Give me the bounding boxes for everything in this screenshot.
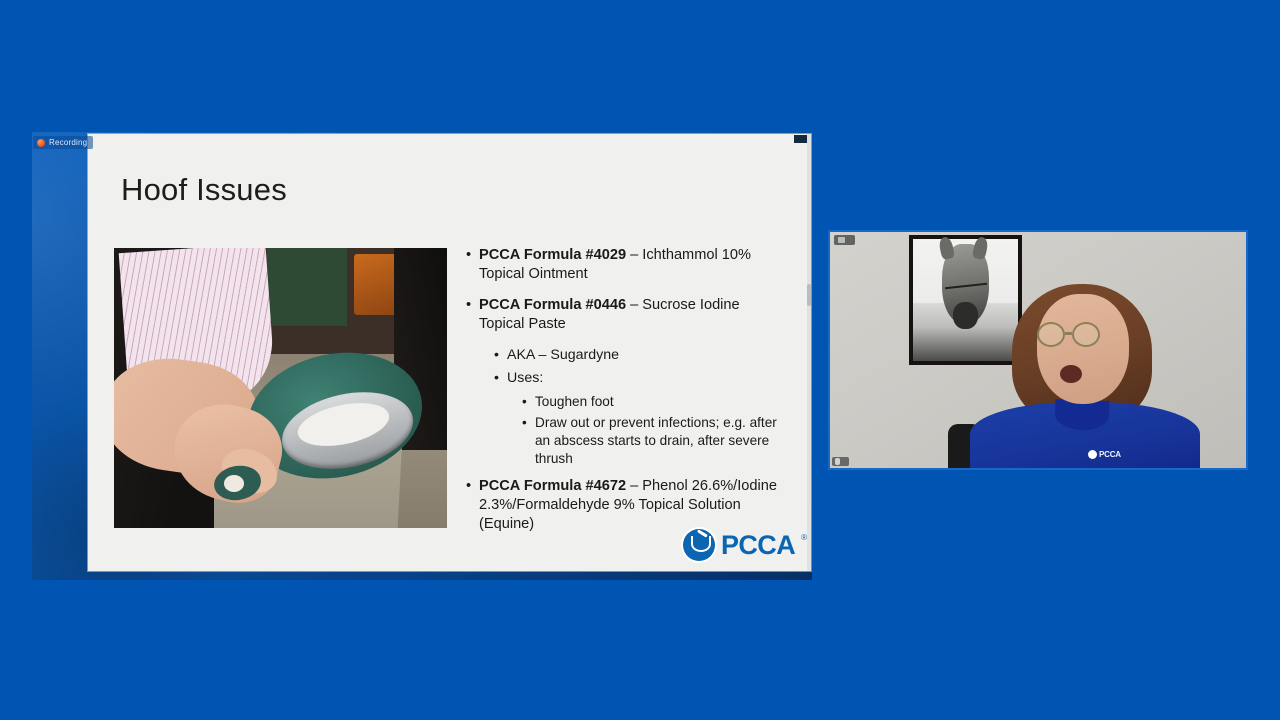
horse-muzzle (953, 302, 978, 329)
framed-horse-photo (909, 235, 1022, 365)
video-top-badge[interactable] (834, 235, 855, 245)
bullet-dot-icon: • (466, 296, 479, 334)
horse-ear-left (938, 235, 955, 259)
slide-corner-marker (794, 135, 808, 143)
speaker-mouth (1060, 365, 1082, 383)
record-dot-icon (37, 139, 45, 147)
bullet-dot-icon: • (466, 477, 479, 534)
list-item-text: PCCA Formula #4029 – Ichthammol 10% Topi… (479, 246, 786, 284)
list-item-text: AKA – Sugardyne (507, 346, 786, 364)
bullet-dot-icon: • (522, 414, 535, 467)
horse-photo-image (913, 239, 1018, 361)
slide-scrollbar[interactable] (807, 134, 811, 571)
list-item: • Toughen foot (466, 393, 786, 411)
bullet-dot-icon: • (494, 369, 507, 387)
list-item: • PCCA Formula #4029 – Ichthammol 10% To… (466, 246, 786, 284)
bullet-dot-icon: • (494, 346, 507, 364)
photo-orange-object (354, 254, 397, 316)
photo-second-pad-highlight (224, 475, 244, 492)
microphone-icon (835, 458, 840, 465)
recording-label: Recording (49, 138, 87, 147)
bullet-dot-icon: • (522, 393, 535, 411)
participant-video-tile[interactable]: PCCA (828, 230, 1248, 470)
pcca-wordmark: PCCA (721, 530, 795, 561)
shirt-pcca-logo: PCCA (1088, 450, 1121, 459)
eyeglass-bridge (1065, 332, 1072, 335)
list-item-text: Uses: (507, 369, 786, 387)
presentation-slide[interactable]: Hoof Issues • PCCA Formula #4029 – Ichth… (88, 134, 811, 571)
mortar-and-pestle-icon (1088, 450, 1097, 459)
list-item-bold: PCCA Formula #0446 (479, 297, 626, 313)
list-item-bold: PCCA Formula #4029 (479, 247, 626, 263)
list-item: • Draw out or prevent infections; e.g. a… (466, 414, 786, 467)
slide-bullet-list: • PCCA Formula #4029 – Ichthammol 10% To… (466, 246, 786, 546)
recording-indicator: Recording (33, 136, 93, 149)
slide-scrollbar-thumb[interactable] (807, 284, 811, 306)
slide-title: Hoof Issues (121, 172, 287, 208)
list-item-text: PCCA Formula #0446 – Sucrose Iodine Topi… (479, 296, 786, 334)
photo-green-background (267, 248, 347, 326)
eyeglass-lens-left (1037, 322, 1065, 347)
trademark-symbol: ® (801, 533, 807, 542)
list-item: • Uses: (466, 369, 786, 387)
list-item-bold: PCCA Formula #4672 (479, 478, 626, 494)
video-name-badge (832, 457, 849, 466)
bullet-dot-icon: • (466, 246, 479, 284)
pin-icon (838, 237, 845, 243)
list-item-text: Toughen foot (535, 393, 786, 411)
list-item: • PCCA Formula #4672 – Phenol 26.6%/Iodi… (466, 477, 786, 534)
list-item: • AKA – Sugardyne (466, 346, 786, 364)
shirt-logo-text: PCCA (1099, 450, 1121, 459)
mortar-and-pestle-icon (683, 529, 715, 561)
list-item: • PCCA Formula #0446 – Sucrose Iodine To… (466, 296, 786, 334)
pcca-logo: PCCA ® (683, 529, 807, 561)
list-item-text: PCCA Formula #4672 – Phenol 26.6%/Iodine… (479, 477, 786, 534)
horse-ear-right (972, 235, 989, 259)
list-item-text: Draw out or prevent infections; e.g. aft… (535, 414, 786, 467)
speaker-face (1037, 294, 1129, 404)
slide-photo (114, 248, 447, 528)
eyeglass-lens-right (1072, 322, 1100, 347)
